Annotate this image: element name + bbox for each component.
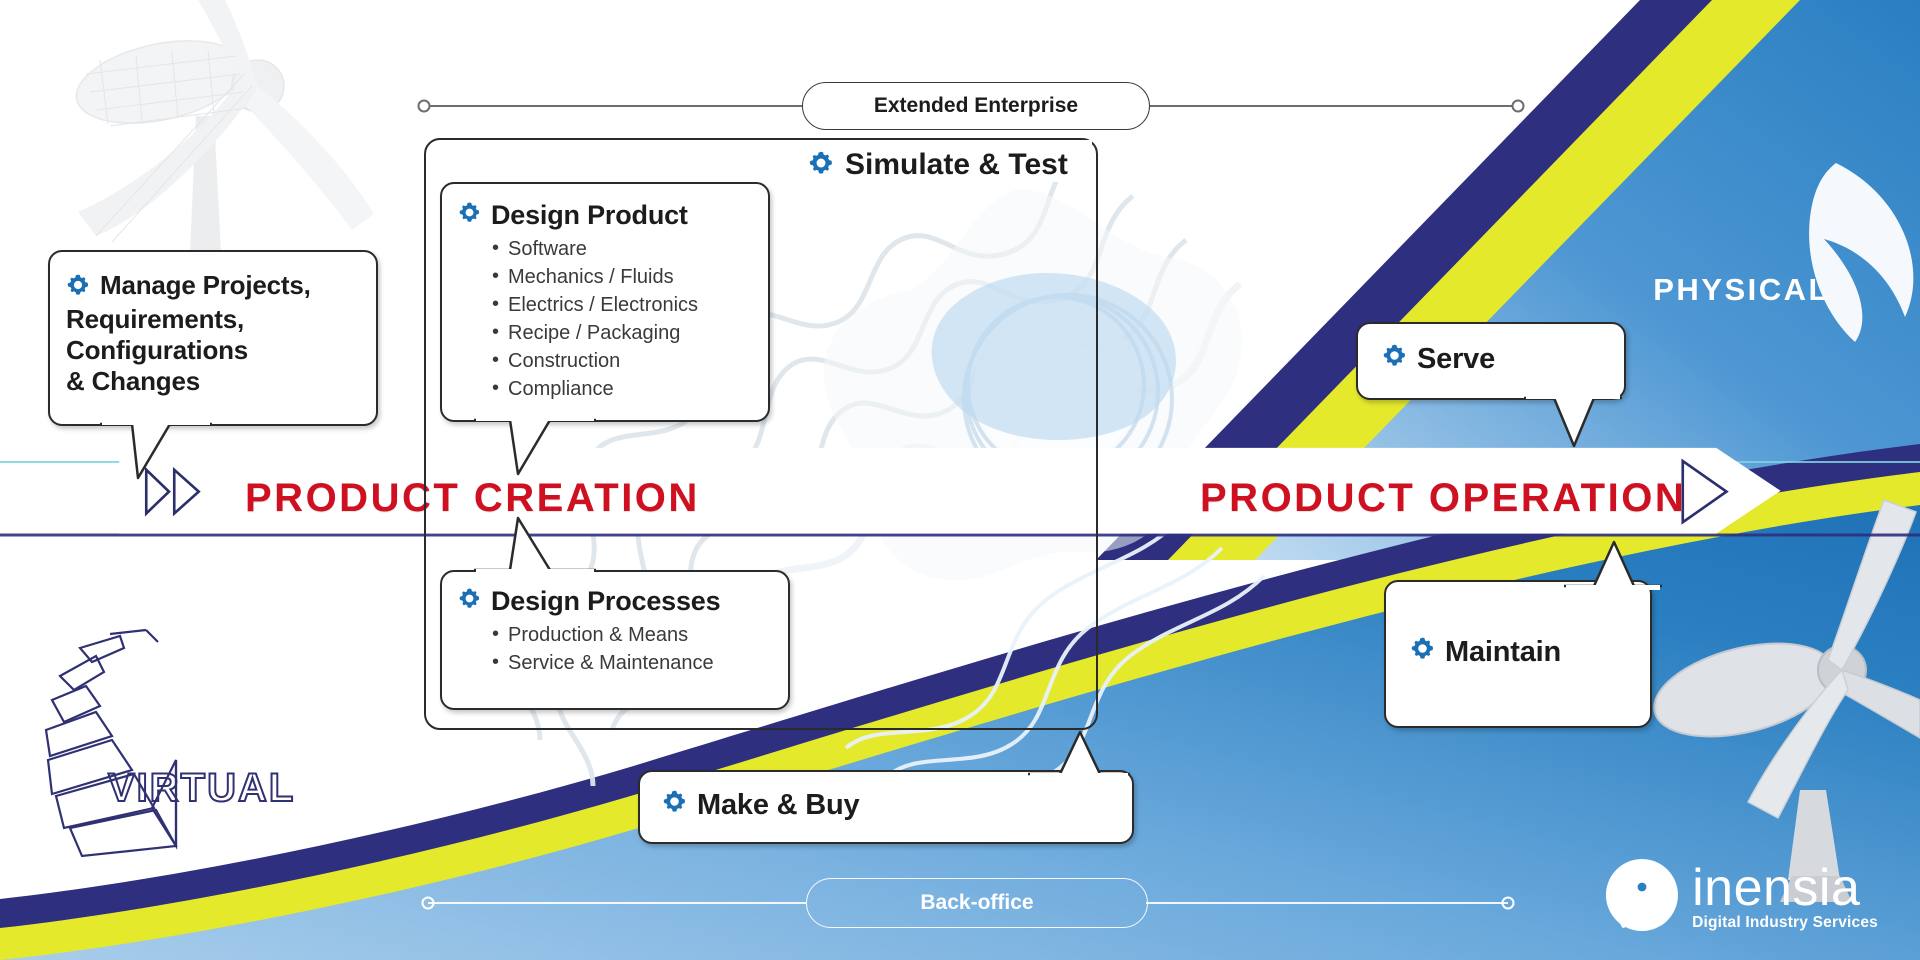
gear-icon (458, 586, 481, 617)
inensia-tagline: Digital Industry Services (1692, 914, 1878, 932)
callout-manage-projects-line3: Configurations (66, 335, 248, 365)
callout-maintain[interactable]: Maintain (1384, 580, 1652, 728)
inensia-wordmark: inensia (1692, 863, 1878, 913)
back-office-label: Back-office (806, 878, 1148, 928)
extended-enterprise-label: Extended Enterprise (802, 82, 1150, 130)
zone-label-virtual: VIRTUAL (108, 766, 295, 811)
gear-icon (458, 200, 481, 231)
list-item: Recipe / Packaging (490, 319, 768, 347)
inensia-logo[interactable]: inensia Digital Industry Services (1600, 853, 1878, 942)
gear-icon (66, 273, 90, 304)
list-item: Software (490, 235, 768, 263)
callout-manage-projects-tail (96, 420, 216, 486)
list-item: Service & Maintenance (490, 649, 788, 677)
callout-maintain-label: Maintain (1445, 636, 1561, 669)
callout-manage-projects[interactable]: Manage Projects, Requirements, Configura… (48, 250, 378, 426)
callout-design-product-label: Design Product (491, 200, 688, 231)
list-item: Production & Means (490, 621, 788, 649)
callout-serve-tail (1520, 394, 1626, 452)
callout-manage-projects-line2: Requirements, (66, 304, 244, 334)
callout-maintain-tail (1560, 536, 1666, 590)
zone-label-physical: PHYSICAL (1653, 272, 1830, 308)
callout-serve[interactable]: Serve (1356, 322, 1626, 400)
callout-manage-projects-line1: Manage Projects, (100, 270, 311, 301)
callout-design-processes-label: Design Processes (491, 586, 720, 617)
back-office-text: Back-office (920, 891, 1033, 915)
callout-design-product-tail (470, 416, 600, 482)
list-item: Compliance (490, 375, 768, 403)
list-item: Electrics / Electronics (490, 291, 768, 319)
callout-simulate-and-test-label: Simulate & Test (845, 148, 1068, 182)
gear-icon (808, 150, 834, 181)
callout-manage-projects-line4: & Changes (66, 366, 200, 396)
callout-make-and-buy-tail (1024, 726, 1134, 778)
gear-icon (1410, 636, 1435, 669)
inensia-gear-crescent-icon (1600, 853, 1684, 942)
list-item: Mechanics / Fluids (490, 263, 768, 291)
callout-design-processes[interactable]: Design Processes Production & Means Serv… (440, 570, 790, 710)
callout-make-and-buy-label: Make & Buy (697, 789, 859, 822)
list-item: Construction (490, 347, 768, 375)
callout-make-and-buy[interactable]: Make & Buy (638, 770, 1134, 844)
callout-serve-label: Serve (1417, 343, 1495, 376)
callout-simulate-and-test-title: Simulate & Test (808, 148, 1068, 182)
infographic-canvas: PRODUCT CREATION PRODUCT OPERATION PHYSI… (0, 0, 1920, 960)
gear-icon (662, 789, 687, 822)
gear-icon (1382, 343, 1407, 376)
extended-enterprise-text: Extended Enterprise (874, 94, 1078, 118)
callout-design-product[interactable]: Design Product Software Mechanics / Flui… (440, 182, 770, 422)
callout-design-processes-tail (470, 512, 600, 576)
band-label-product-operation: PRODUCT OPERATION (1200, 476, 1686, 521)
